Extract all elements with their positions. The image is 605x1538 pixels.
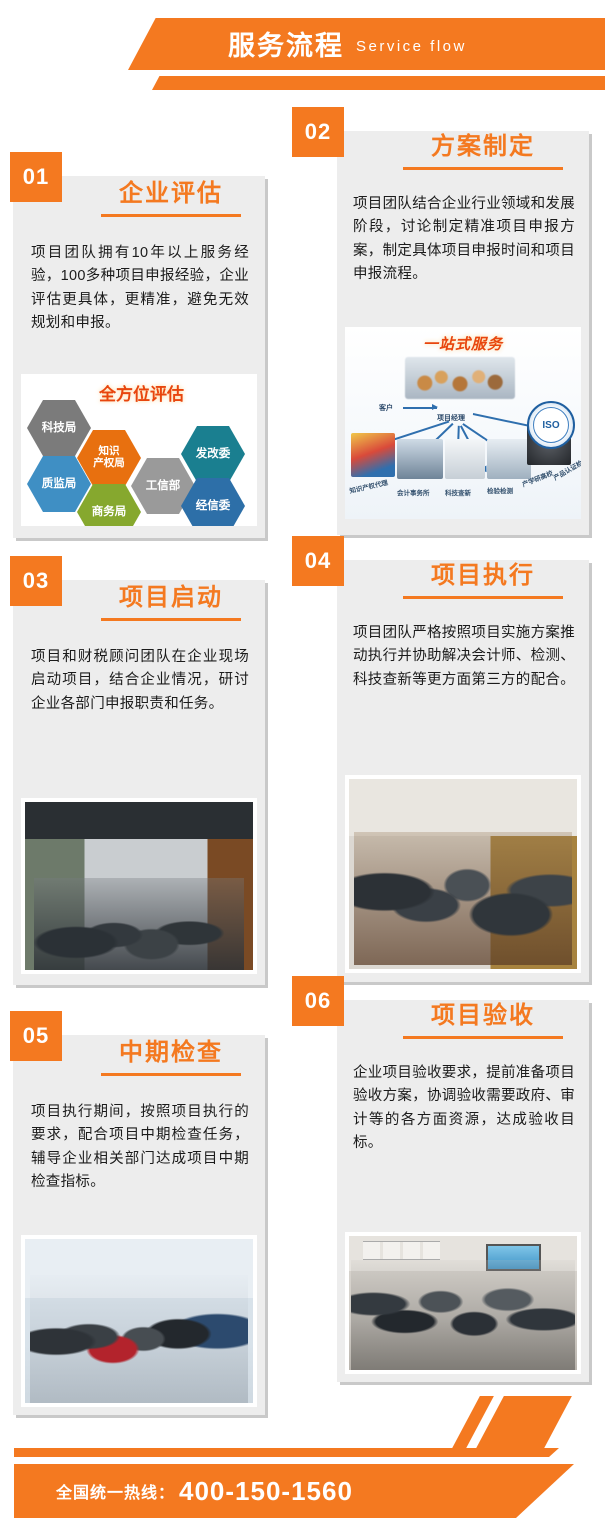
- hotline-group: 全国统一热线： 400-150-1560: [56, 1464, 353, 1518]
- step-description: 项目执行期间，按照项目执行的要求，配合项目中期检查任务，辅导企业相关部门达成项目…: [31, 1101, 249, 1195]
- step-number-badge: 04: [292, 536, 344, 586]
- arrow-customer-to-pm: [403, 407, 437, 409]
- title-underline: [101, 214, 241, 217]
- photo-lobby-visit: [21, 1235, 257, 1407]
- header-title-group: 服务流程 Service flow: [228, 26, 467, 66]
- node-label-customer: 客户: [379, 403, 393, 413]
- title-underline: [403, 1036, 563, 1039]
- step-title-group: 项目执行: [385, 564, 581, 599]
- process-step-card-02: 02 方案制定 项目团队结合企业行业领域和发展阶段，讨论制定精准项目申报方案，制…: [337, 131, 589, 535]
- photo-boardroom: [345, 1232, 581, 1374]
- step-title: 项目验收: [385, 1004, 581, 1028]
- step-title: 项目执行: [385, 564, 581, 588]
- process-step-card-04: 04 项目执行 项目团队严格按照项目实施方案推动执行并协助解决会计师、检测、科技…: [337, 560, 589, 982]
- step-title-group: 中期检查: [83, 1041, 259, 1076]
- process-step-card-06: 06 项目验收 企业项目验收要求，提前准备项目验收方案，协调验收需要政府、审计等…: [337, 1000, 589, 1382]
- step-description: 项目团队拥有10年以上服务经验，100多种项目申报经验，企业评估更具体，更精准，…: [31, 242, 249, 336]
- boardroom-image: [349, 1236, 577, 1370]
- lobby-visit-image: [25, 1239, 253, 1403]
- presentation-screen: [486, 1244, 541, 1271]
- thumb-accounting-office: [397, 439, 443, 479]
- title-underline: [403, 596, 563, 599]
- step-title: 项目启动: [83, 586, 259, 610]
- step-description: 项目团队结合企业行业领域和发展阶段，讨论制定精准项目申报方案，制定具体项目申报时…: [353, 193, 575, 287]
- step-number-badge: 01: [10, 152, 62, 202]
- process-step-card-01: 01 企业评估 项目团队拥有10年以上服务经验，100多种项目申报经验，企业评估…: [13, 176, 265, 538]
- service-label-inspection: 检验检测: [487, 485, 513, 495]
- title-underline: [403, 167, 563, 170]
- step-description: 项目团队严格按照项目实施方案推动执行并协助解决会计师、检测、科技查新等更方面第三…: [353, 622, 575, 692]
- page-title: 服务流程: [228, 33, 344, 60]
- thumb-inspection-lab: [487, 439, 531, 479]
- hex-node-kejiju: 科技局: [27, 400, 91, 456]
- step-title-group: 方案制定: [385, 135, 581, 170]
- step-title: 企业评估: [83, 182, 259, 206]
- page-subtitle: Service flow: [356, 39, 467, 54]
- meeting-table-image: [349, 779, 577, 969]
- hex-diagram-heading: 全方位评估: [99, 380, 184, 405]
- step-title: 方案制定: [385, 135, 581, 159]
- service-label-accounting: 会计事务所: [397, 487, 430, 497]
- node-label-project-manager: 项目经理: [437, 413, 465, 423]
- step-title-group: 项目验收: [385, 1004, 581, 1039]
- title-underline: [101, 1073, 241, 1076]
- step-description: 项目和财税顾问团队在企业现场启动项目，结合企业情况，研讨企业各部门申报职责和任务…: [31, 646, 249, 716]
- header-accent-stripe: [152, 76, 605, 90]
- one-stop-service-diagram: 一站式服务 客户 项目经理 ISO 知识产权代理 会计事务所: [345, 327, 581, 519]
- hex-node-fagaiwei: 发改委: [181, 426, 245, 482]
- photo-meeting-table: [345, 775, 581, 973]
- page-footer: 全国统一热线： 400-150-1560: [0, 1408, 605, 1538]
- infographic-page: 服务流程 Service flow 01 企业评估 项目团队拥有10年以上服务经…: [0, 0, 605, 1538]
- step-title-group: 企业评估: [83, 182, 259, 217]
- hotline-number[interactable]: 400-150-1560: [179, 1476, 353, 1507]
- page-header: 服务流程 Service flow: [0, 0, 605, 110]
- iso-certification-seal: ISO: [527, 401, 575, 449]
- hotline-label: 全国统一热线：: [56, 1479, 175, 1503]
- title-underline: [101, 618, 241, 621]
- service-label-ip: 知识产权代理: [348, 477, 388, 496]
- step-title-group: 项目启动: [83, 586, 259, 621]
- thumb-tech-search: [445, 439, 485, 479]
- step-number-badge: 05: [10, 1011, 62, 1061]
- thumb-ip-books: [351, 433, 395, 477]
- wall-certificates: [363, 1241, 441, 1260]
- service-label-tech-search: 科技查新: [445, 487, 471, 497]
- meeting-photo-thumb: [405, 357, 515, 399]
- step-number-badge: 06: [292, 976, 344, 1026]
- footer-accent-stripe: [14, 1448, 559, 1457]
- step-number-badge: 03: [10, 556, 62, 606]
- process-step-card-05: 05 中期检查 项目执行期间，按照项目执行的要求，配合项目中期检查任务，辅导企业…: [13, 1035, 265, 1415]
- photo-meeting-room: [21, 798, 257, 974]
- meeting-room-image: [25, 802, 253, 970]
- process-step-card-03: 03 项目启动 项目和财税顾问团队在企业现场启动项目，结合企业情况，研讨企业各部…: [13, 580, 265, 985]
- hex-node-label: 知识产权局: [93, 446, 125, 470]
- step-number-badge: 02: [292, 107, 344, 157]
- step-title: 中期检查: [83, 1041, 259, 1065]
- one-stop-title: 一站式服务: [423, 333, 503, 354]
- step-description: 企业项目验收要求，提前准备项目验收方案，协调验收需要政府、审计等的各方面资源，达…: [353, 1062, 575, 1156]
- hex-assessment-diagram: 全方位评估 科技局 知识产权局 发改委 质监局 工信部 经信委 商务局: [21, 374, 257, 526]
